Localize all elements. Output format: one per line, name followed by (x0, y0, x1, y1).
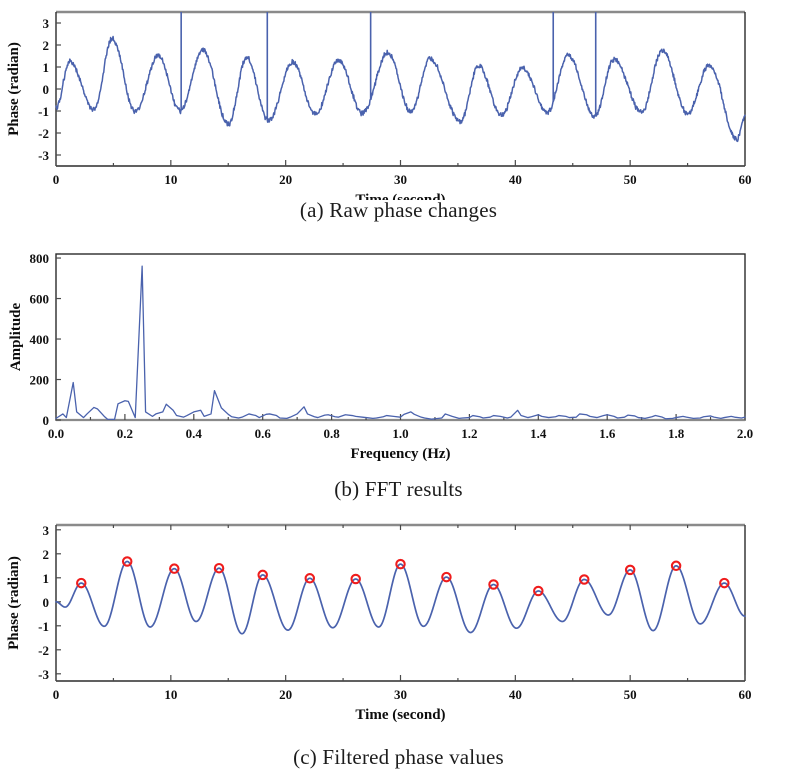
svg-text:30: 30 (394, 687, 407, 702)
caption-a: (a) Raw phase changes (0, 198, 797, 223)
svg-text:Phase (radian): Phase (radian) (6, 42, 22, 136)
svg-text:-3: -3 (38, 148, 49, 163)
svg-text:0.2: 0.2 (117, 426, 133, 441)
svg-text:-1: -1 (38, 104, 49, 119)
svg-text:Amplitude: Amplitude (8, 302, 24, 371)
svg-text:50: 50 (624, 172, 637, 187)
chart-a-svg: -3-2-101230102030405060Time (second)Phas… (0, 0, 797, 200)
svg-text:Frequency (Hz): Frequency (Hz) (350, 446, 450, 462)
svg-text:40: 40 (509, 687, 522, 702)
panel-raw-phase-changes: -3-2-101230102030405060Time (second)Phas… (0, 0, 797, 200)
trace-filtered-phase (56, 561, 745, 633)
svg-text:1.0: 1.0 (392, 426, 408, 441)
figure-container: -3-2-101230102030405060Time (second)Phas… (0, 0, 797, 777)
svg-text:Time (second): Time (second) (355, 707, 445, 723)
svg-text:60: 60 (739, 172, 752, 187)
axis-frame-b (56, 254, 745, 420)
svg-text:0.6: 0.6 (255, 426, 272, 441)
svg-text:0: 0 (53, 687, 60, 702)
svg-text:-3: -3 (38, 667, 49, 682)
svg-text:0.0: 0.0 (48, 426, 64, 441)
svg-text:0: 0 (53, 172, 60, 187)
panel-fft-results: 02004006008000.00.20.40.60.81.01.21.41.6… (0, 238, 797, 483)
svg-text:3: 3 (43, 523, 50, 538)
chart-c-svg: -3-2-101230102030405060Time (second)Phas… (0, 513, 797, 745)
svg-text:50: 50 (624, 687, 637, 702)
svg-text:0.8: 0.8 (323, 426, 340, 441)
svg-text:600: 600 (30, 292, 50, 307)
svg-text:3: 3 (43, 16, 50, 31)
svg-text:1: 1 (43, 60, 50, 75)
svg-text:30: 30 (394, 172, 407, 187)
svg-text:1.2: 1.2 (461, 426, 477, 441)
svg-text:800: 800 (30, 251, 50, 266)
trace-fft-spectrum (56, 266, 745, 419)
svg-text:1: 1 (43, 571, 50, 586)
svg-text:2: 2 (43, 38, 50, 53)
svg-text:2: 2 (43, 547, 50, 562)
svg-text:-2: -2 (38, 126, 49, 141)
svg-text:0: 0 (43, 595, 50, 610)
svg-text:0: 0 (43, 82, 50, 97)
svg-text:40: 40 (509, 172, 522, 187)
svg-text:1.6: 1.6 (599, 426, 616, 441)
svg-text:-2: -2 (38, 643, 49, 658)
caption-b: (b) FFT results (0, 477, 797, 502)
svg-text:20: 20 (279, 172, 292, 187)
svg-text:1.8: 1.8 (668, 426, 685, 441)
svg-text:-1: -1 (38, 619, 49, 634)
svg-text:2.0: 2.0 (737, 426, 753, 441)
svg-text:Phase (radian): Phase (radian) (6, 556, 22, 650)
svg-text:1.4: 1.4 (530, 426, 547, 441)
caption-c: (c) Filtered phase values (0, 745, 797, 770)
trace-raw-phase (56, 36, 745, 141)
svg-text:60: 60 (739, 687, 752, 702)
panel-filtered-phase-values: -3-2-101230102030405060Time (second)Phas… (0, 513, 797, 745)
chart-b-svg: 02004006008000.00.20.40.60.81.01.21.41.6… (0, 238, 797, 483)
svg-text:400: 400 (30, 332, 50, 347)
svg-text:200: 200 (30, 373, 50, 388)
svg-text:0.4: 0.4 (186, 426, 203, 441)
svg-text:10: 10 (164, 172, 177, 187)
svg-text:10: 10 (164, 687, 177, 702)
svg-text:20: 20 (279, 687, 292, 702)
